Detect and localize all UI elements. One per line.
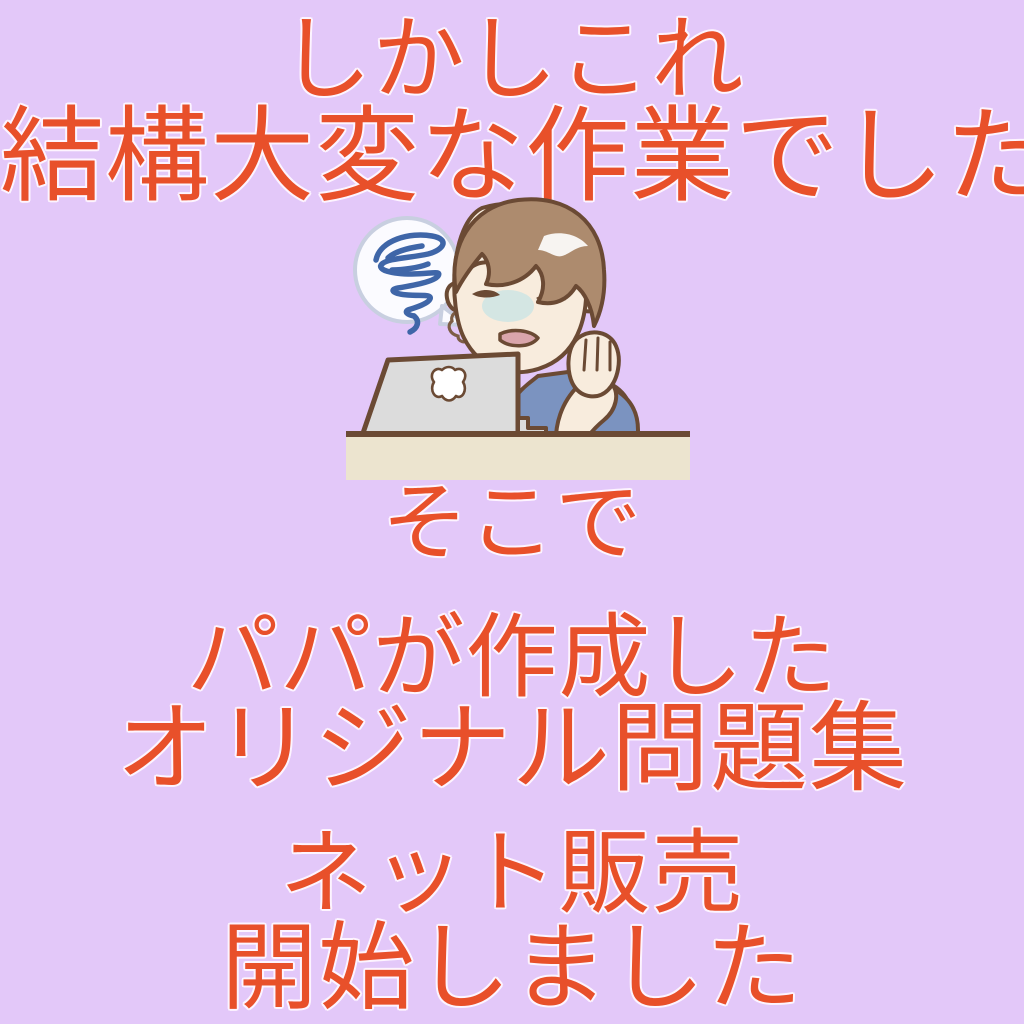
headline-line-5: オリジナル問題集 [0, 700, 1024, 798]
thought-bubble-icon [355, 218, 467, 332]
slide-canvas: しかしこれ 結構大変な作業でした [0, 0, 1024, 1024]
laptop-logo-icon [432, 367, 465, 401]
headline-line-6: ネット販売 [0, 828, 1024, 920]
laptop [362, 354, 546, 436]
headline-line-4: パパが作成した [0, 612, 1024, 704]
headline-line-3: そこで [0, 480, 1024, 566]
headline-line-7: 開始しました [0, 920, 1024, 1016]
hand [568, 332, 618, 396]
headline-line-1: しかしこれ [0, 14, 1024, 106]
mouth [500, 331, 538, 346]
illustration-troubled-man-at-laptop [332, 188, 704, 488]
